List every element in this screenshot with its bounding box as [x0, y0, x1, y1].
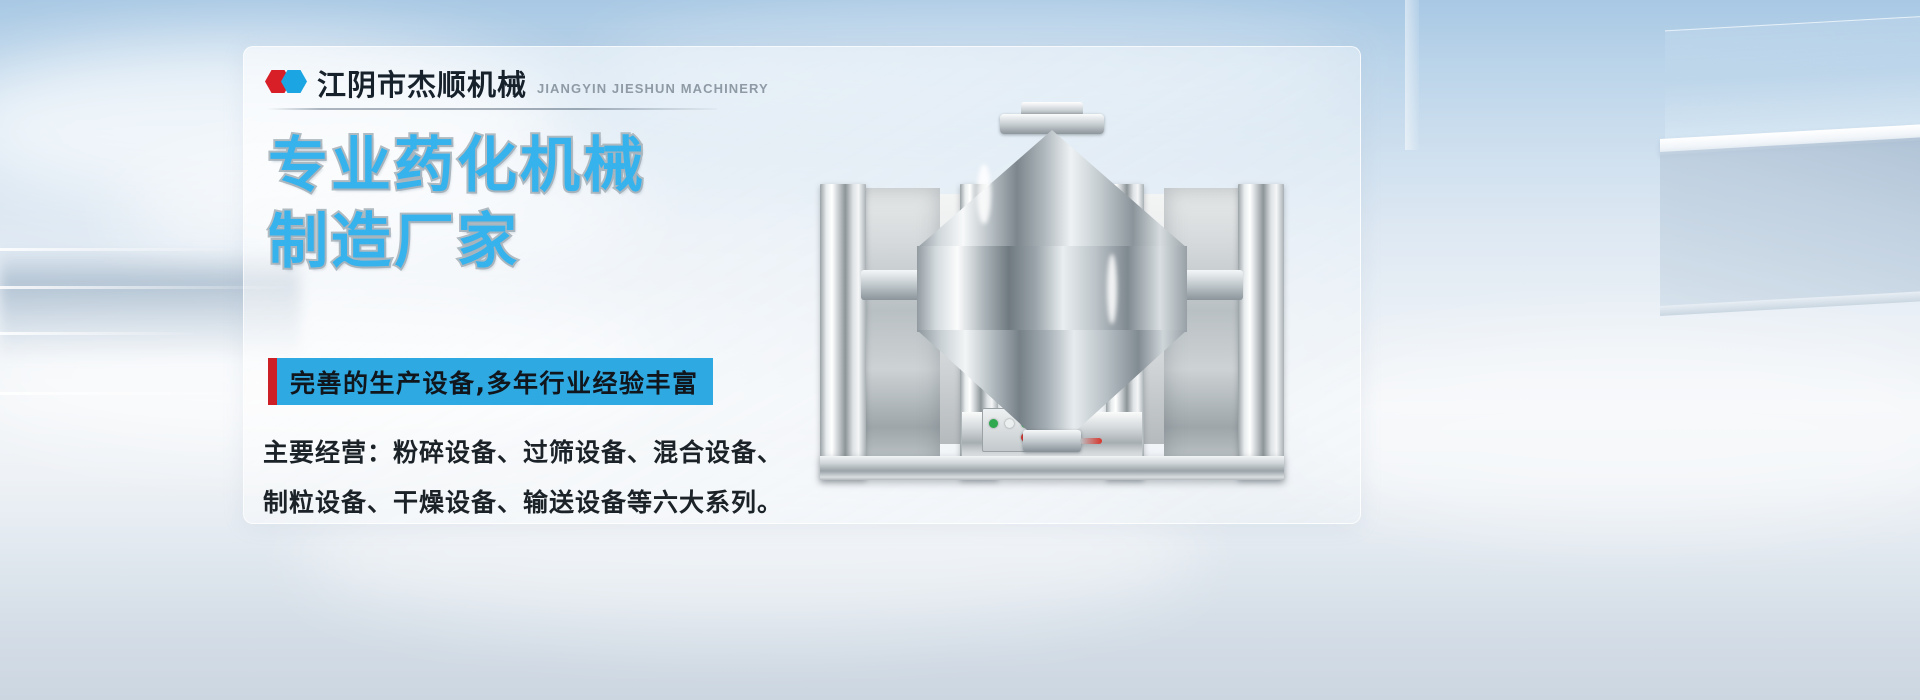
vessel-upper-cone — [917, 130, 1187, 248]
headline-text: 专业药化机械 制造厂家 — [268, 128, 646, 280]
vessel-discharge-valve — [1023, 430, 1081, 452]
vessel-mid-band — [917, 246, 1187, 332]
brand-logo[interactable]: 江阴市杰顺机械 JIANGYIN JIESHUN MACHINERY — [265, 70, 769, 100]
machine-leg — [820, 184, 866, 480]
company-name-cn: 江阴市杰顺机械 — [317, 71, 527, 100]
logo-divider — [267, 108, 717, 110]
business-scope-text: 主要经营：粉碎设备、过筛设备、混合设备、 制粒设备、干燥设备、输送设备等六大系列… — [263, 428, 783, 528]
metal-glint — [977, 164, 991, 224]
double-cone-vessel — [917, 94, 1187, 394]
indicator-button — [989, 419, 998, 428]
machine-base — [820, 456, 1284, 480]
logo-mark — [265, 70, 307, 94]
machine-leg — [1238, 184, 1284, 480]
promo-banner: 江阴市杰顺机械 JIANGYIN JIESHUN MACHINERY 专业药化机… — [0, 0, 1920, 700]
company-name-en: JIANGYIN JIESHUN MACHINERY — [537, 81, 769, 96]
tagline-text: 完善的生产设备,多年行业经验丰富 — [277, 364, 699, 400]
tagline-highlight-bar: 完善的生产设备,多年行业经验丰富 — [268, 358, 713, 405]
vessel-trunnion-right — [1179, 270, 1243, 300]
indicator-button — [1005, 419, 1014, 428]
metal-glint — [1107, 254, 1117, 324]
red-accent-bar — [268, 358, 277, 405]
vessel-trunnion-left — [861, 270, 925, 300]
product-photo — [812, 60, 1292, 480]
valve-handle — [1080, 438, 1102, 444]
